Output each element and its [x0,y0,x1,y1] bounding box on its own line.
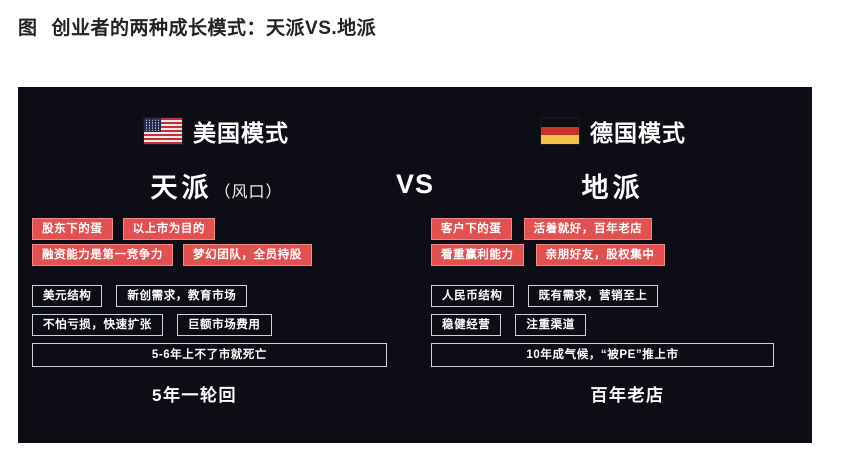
figure-caption-tag: 图 [18,18,38,39]
footer-label-left: 5年一轮回 [18,381,393,406]
pill-tag: 客户下的蛋 [431,218,512,240]
outline-box: 美元结构 [32,285,102,307]
box-row: 人民币结构 既有需求，营销至上 [415,285,812,307]
country-name-left: 美国模式 [193,114,289,148]
pill-group-right: 客户下的蛋 活着就好，百年老店 看重赢利能力 亲朋好友，股权集中 [415,218,812,270]
box-group-right: 人民币结构 既有需求，营销至上 稳健经营 注重渠道 10年成气候，“被PE”推上… [415,285,812,374]
outline-box: 巨额市场费用 [177,314,272,336]
outline-box: 不怕亏损，快速扩张 [32,314,163,336]
box-row: 稳健经营 注重渠道 [415,314,812,336]
country-row-right: 德国模式 [415,114,812,148]
footer-label-right: 百年老店 [429,381,812,406]
outline-box-wide: 5-6年上不了市就死亡 [32,343,387,367]
pill-group-left: 股东下的蛋 以上市为目的 融资能力是第一竞争力 梦幻团队，全员持股 [18,218,415,270]
box-row: 美元结构 新创需求，教育市场 [18,285,415,307]
us-flag-canton [144,118,161,132]
de-flag-red-band [541,127,579,136]
outline-box: 新创需求，教育市场 [116,285,247,307]
pill-row: 看重赢利能力 亲朋好友，股权集中 [415,244,812,266]
pill-row: 客户下的蛋 活着就好，百年老店 [415,218,812,240]
pill-row: 股东下的蛋 以上市为目的 [18,218,415,240]
pill-tag: 看重赢利能力 [431,244,524,266]
country-row-left: 美国模式 [18,114,415,148]
de-flag-icon [541,118,579,144]
pill-row: 融资能力是第一竞争力 梦幻团队，全员持股 [18,244,415,266]
pill-tag: 融资能力是第一竞争力 [32,244,173,266]
outline-box: 既有需求，营销至上 [528,285,659,307]
us-flag-icon [144,118,182,144]
pill-tag: 以上市为目的 [123,218,216,240]
figure-caption: 图创业者的两种成长模式：天派VS.地派 [18,13,376,40]
figure-caption-text: 创业者的两种成长模式：天派VS.地派 [52,18,377,39]
pill-tag: 亲朋好友，股权集中 [536,244,665,266]
pill-tag: 活着就好，百年老店 [524,218,653,240]
box-row-wide: 5-6年上不了市就死亡 [18,343,415,367]
outline-box: 注重渠道 [515,314,585,336]
pill-tag: 股东下的蛋 [32,218,113,240]
de-flag-black-band [541,118,579,127]
outline-box: 稳健经营 [431,314,501,336]
de-flag-gold-band [541,135,579,144]
column-us-model: 美国模式 天派（风口） 股东下的蛋 以上市为目的 融资能力是第一竞争力 梦幻团队… [18,87,415,443]
box-row-wide: 10年成气候，“被PE”推上市 [415,343,812,367]
country-name-right: 德国模式 [590,114,686,148]
vs-label: VS [18,169,812,200]
comparison-panel: VS 美国模式 天派（风口） 股东下的蛋 以上市为目的 融资能力是第一竞争力 梦… [18,87,812,443]
outline-box: 人民币结构 [431,285,514,307]
outline-box-wide: 10年成气候，“被PE”推上市 [431,343,774,367]
box-group-left: 美元结构 新创需求，教育市场 不怕亏损，快速扩张 巨额市场费用 5-6年上不了市… [18,285,415,374]
box-row: 不怕亏损，快速扩张 巨额市场费用 [18,314,415,336]
column-de-model: 德国模式 地派 客户下的蛋 活着就好，百年老店 看重赢利能力 亲朋好友，股权集中… [415,87,812,443]
pill-tag: 梦幻团队，全员持股 [183,244,312,266]
